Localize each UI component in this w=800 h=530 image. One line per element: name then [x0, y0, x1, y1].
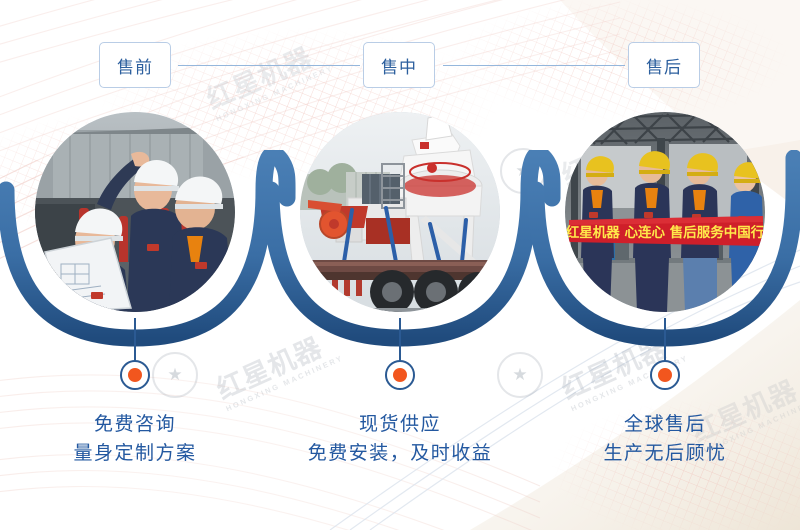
stage-label-row: 售前 售中 售后 [0, 0, 800, 110]
marker-stem-after-sale [664, 318, 666, 362]
arc-after-sale [536, 158, 794, 338]
dot-marker-core [393, 368, 407, 382]
stage-label-text: 售前 [117, 53, 153, 78]
star-glyph: ★ [512, 365, 527, 385]
stage-label-in-sale[interactable]: 售中 [363, 42, 435, 88]
stage-label-text: 售后 [646, 53, 682, 78]
marker-stem-in-sale [399, 318, 401, 362]
caption-line-2: 量身定制方案 [5, 439, 265, 468]
arc-in-sale [271, 155, 552, 338]
caption-line-2: 免费安装，及时收益 [270, 439, 530, 468]
marker-stem-pre-sale [134, 318, 136, 362]
caption-line-1: 免费咨询 [5, 410, 265, 439]
dot-marker-in-sale[interactable] [385, 360, 415, 390]
caption-line-2: 生产无后顾忧 [535, 439, 795, 468]
stage-label-text: 售中 [381, 53, 417, 78]
dot-marker-pre-sale[interactable] [120, 360, 150, 390]
caption-line-1: 全球售后 [535, 410, 795, 439]
dot-marker-after-sale[interactable] [650, 360, 680, 390]
star-glyph: ★ [167, 365, 182, 385]
connector-line-1 [178, 65, 360, 66]
stage-label-after-sale[interactable]: 售后 [628, 42, 700, 88]
stage-label-pre-sale[interactable]: 售前 [99, 42, 171, 88]
connector-line-2 [443, 65, 625, 66]
arc-pre-sale [6, 155, 287, 338]
service-process-graphic: 红星机器 HONGXING MACHINERY ★ 红星机器 HONGXING … [0, 0, 800, 530]
caption-after-sale: 全球售后 生产无后顾忧 [535, 410, 795, 468]
caption-line-1: 现货供应 [270, 410, 530, 439]
caption-in-sale: 现货供应 免费安装，及时收益 [270, 410, 530, 468]
dot-marker-core [658, 368, 672, 382]
caption-pre-sale: 免费咨询 量身定制方案 [5, 410, 265, 468]
dot-marker-core [128, 368, 142, 382]
